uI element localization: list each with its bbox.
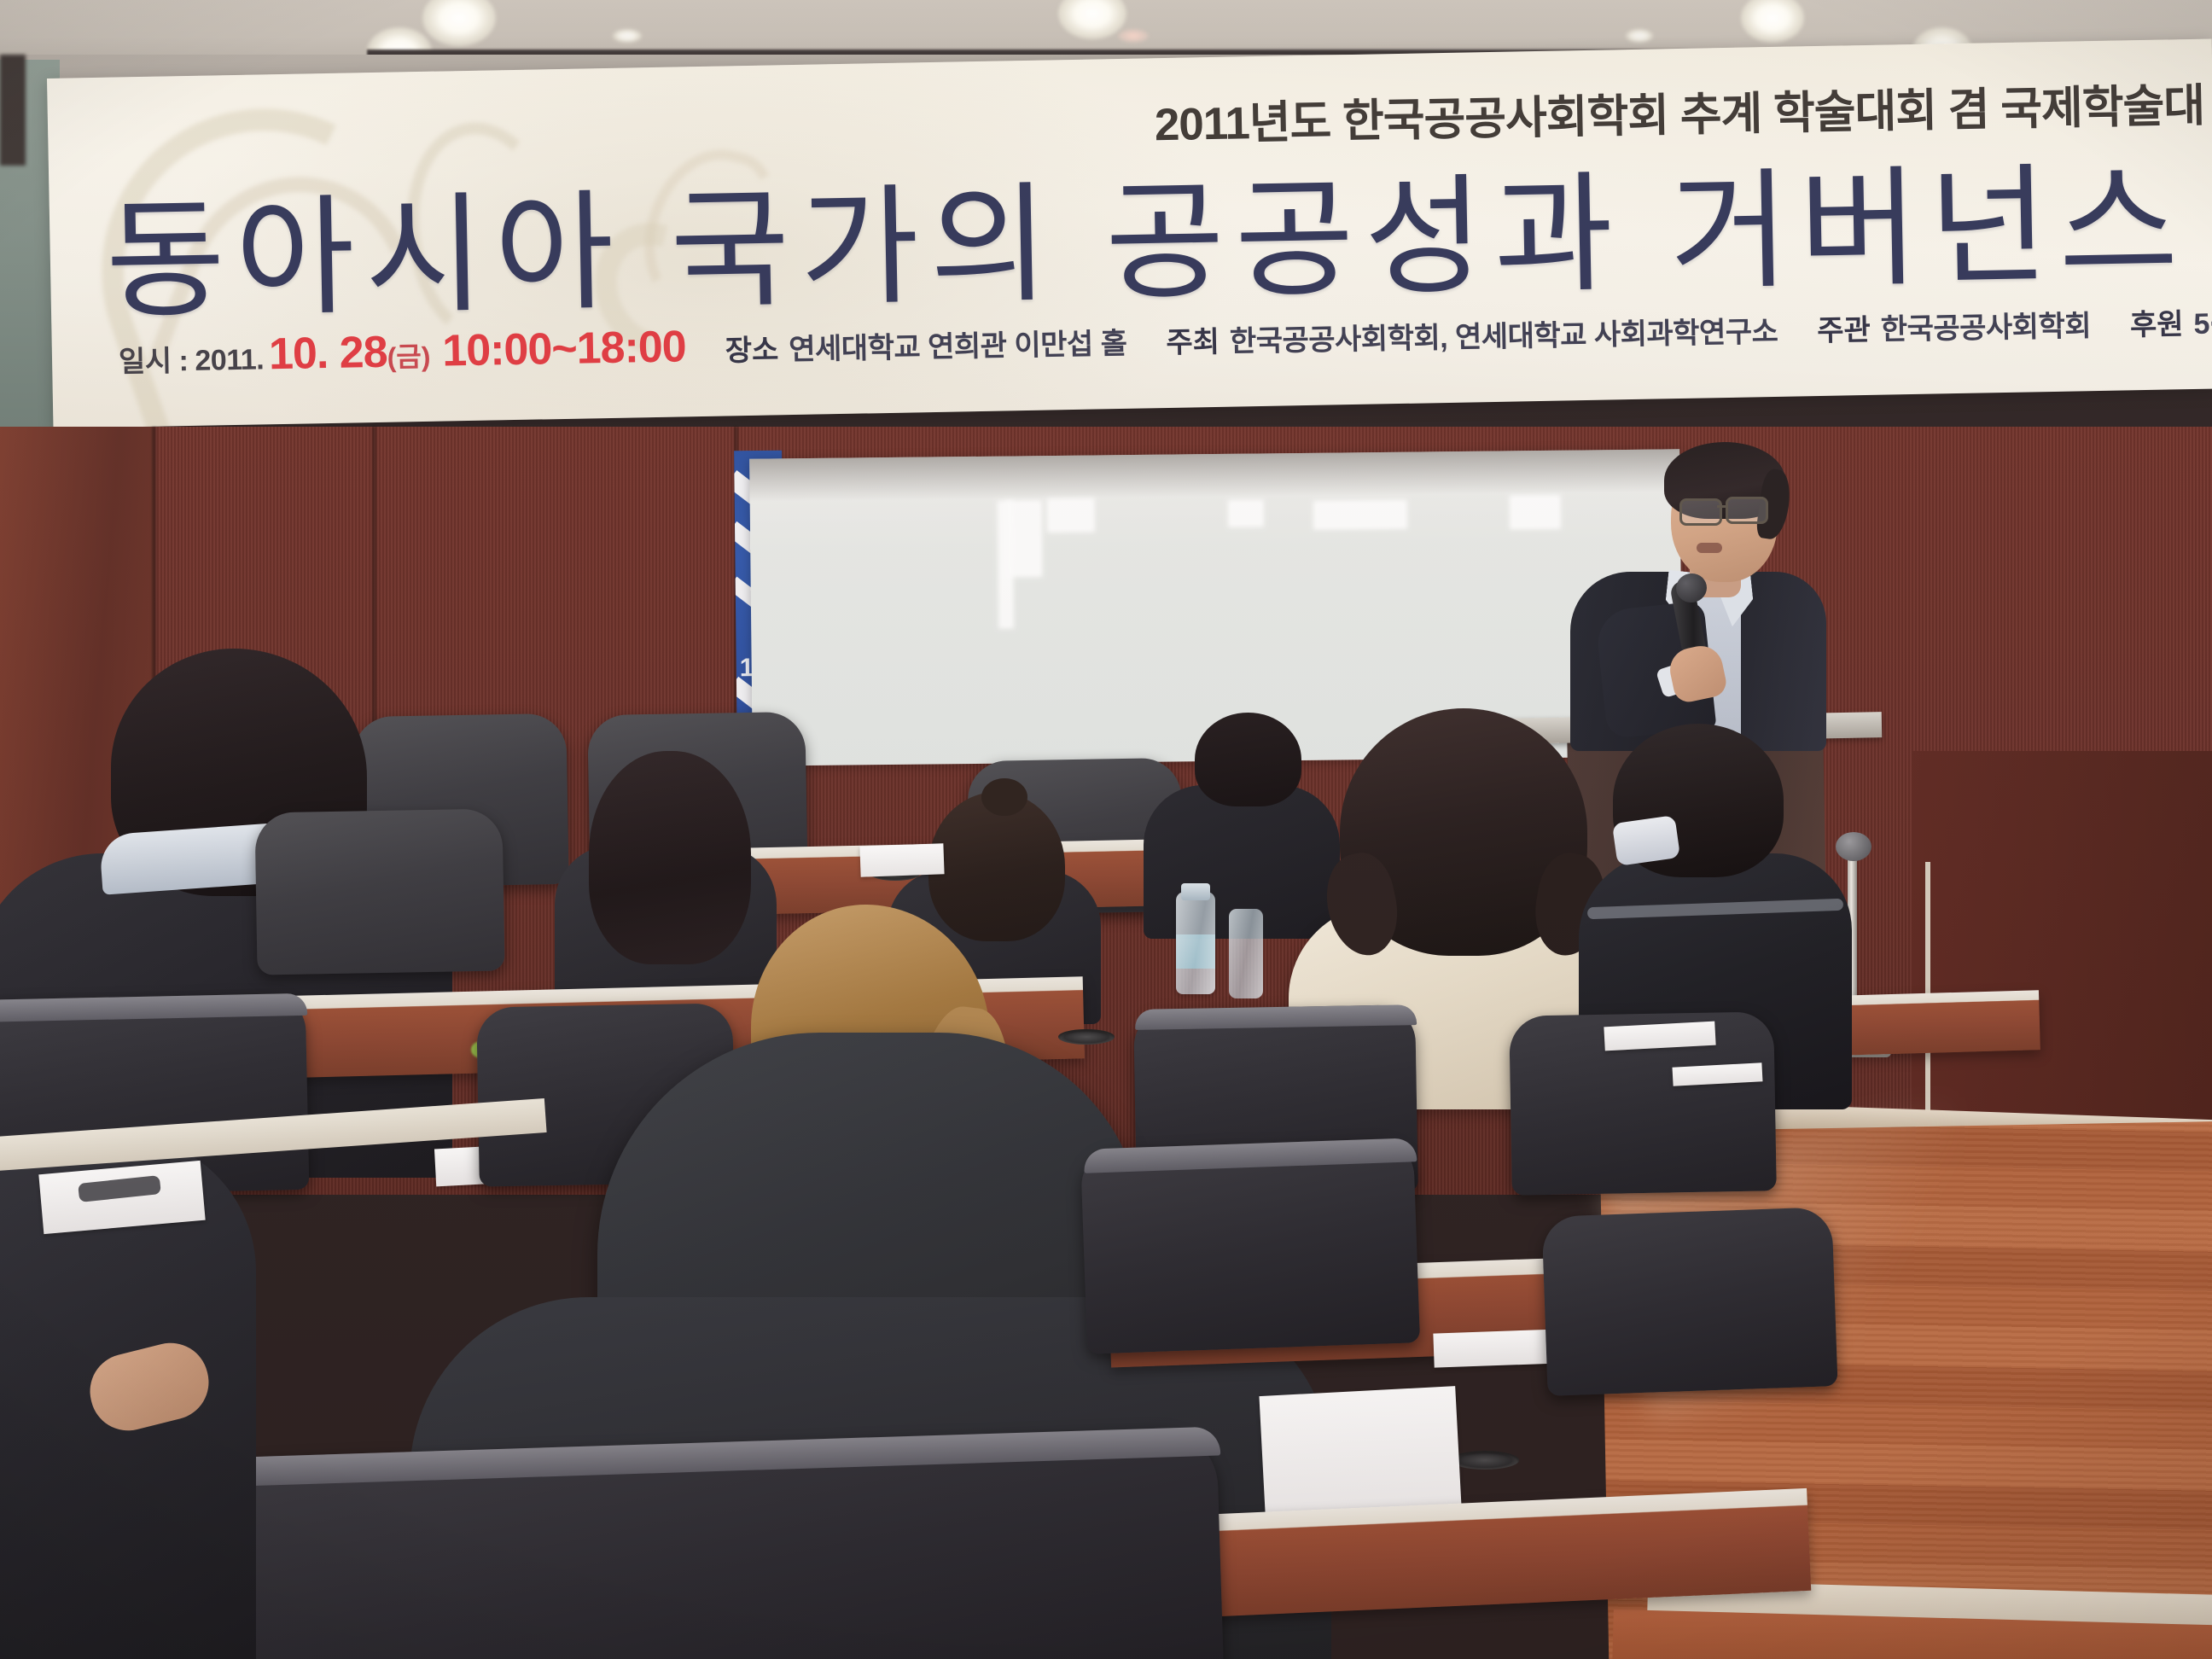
attendee-right-collar xyxy=(1612,815,1680,866)
chair-near-right-2 xyxy=(1541,1207,1837,1396)
banner-date-label: 일시 : xyxy=(119,337,189,380)
banner-venue: 연세대학교 연희관 이만섭 홀 xyxy=(789,320,1127,368)
screen-glare-4 xyxy=(1228,499,1264,527)
attendee-long-hair-hair xyxy=(589,751,751,964)
banner-date-day: 10. 28 xyxy=(268,327,387,381)
banner-host: 한국공공사회학회, 연세대학교 사회과학연구소 xyxy=(1229,308,1778,360)
left-wall-shadow xyxy=(0,55,26,166)
conference-photo: 2011년도 한국공공사회학회 추계 학술대회 겸 국제학술대 동아시아 국가의… xyxy=(0,0,2212,1659)
screen-top-shadow xyxy=(749,449,1679,501)
water-bottle xyxy=(1176,892,1215,994)
speaker-at-podium xyxy=(1570,435,1860,742)
screen-glare-5 xyxy=(1313,500,1407,530)
screen-glare-2 xyxy=(998,500,1015,628)
banner-organizer-label: 주관 xyxy=(1817,306,1871,349)
desk-grommet-mid-1 xyxy=(1058,1029,1115,1045)
screen-glare-3 xyxy=(1047,498,1095,533)
chair-empty-far-4 xyxy=(254,808,504,975)
eyeglasses-bridge-icon xyxy=(1717,505,1727,508)
banner-sponsor-label: 후원 xyxy=(2130,300,2184,343)
conference-banner: 2011년도 한국공공사회학회 추계 학술대회 겸 국제학술대 동아시아 국가의… xyxy=(47,39,2212,428)
ceiling-vent-2 xyxy=(1118,29,1149,43)
ceiling-vent-1 xyxy=(613,29,642,43)
back-wall-right-panel xyxy=(1912,751,2212,1161)
banner-date-weekday: (금) xyxy=(387,335,431,375)
screen-glare-6 xyxy=(1510,495,1561,530)
banner-host-label: 주최 xyxy=(1166,318,1220,361)
attendee-ponytail-tail xyxy=(981,778,1027,816)
ceiling-vent-3 xyxy=(1626,29,1653,43)
microphone-stand-head-icon xyxy=(1836,832,1871,861)
attendee-suit-center-hair xyxy=(1195,713,1301,806)
water-bottle-cap xyxy=(1181,883,1210,900)
eyeglasses-lens-right-icon xyxy=(1726,497,1768,524)
banner-time: 10:00~18:00 xyxy=(442,321,686,376)
banner-organizer: 한국공공사회학회 xyxy=(1880,302,2091,348)
banner-venue-label: 장소 xyxy=(725,326,778,369)
banner-date-year: 2011. xyxy=(195,343,264,377)
paper-on-desk-near-2 xyxy=(1433,1329,1562,1367)
paper-far-desk-1 xyxy=(859,843,944,876)
water-bottle-second xyxy=(1229,909,1263,998)
eyeglasses-lens-left-icon xyxy=(1679,498,1722,526)
desk-grommet-near-1 xyxy=(1451,1451,1519,1470)
speaker-mouth xyxy=(1697,543,1722,553)
banner-sponsor: 5·18기념재단, 사회갈등연구 xyxy=(2193,294,2212,342)
